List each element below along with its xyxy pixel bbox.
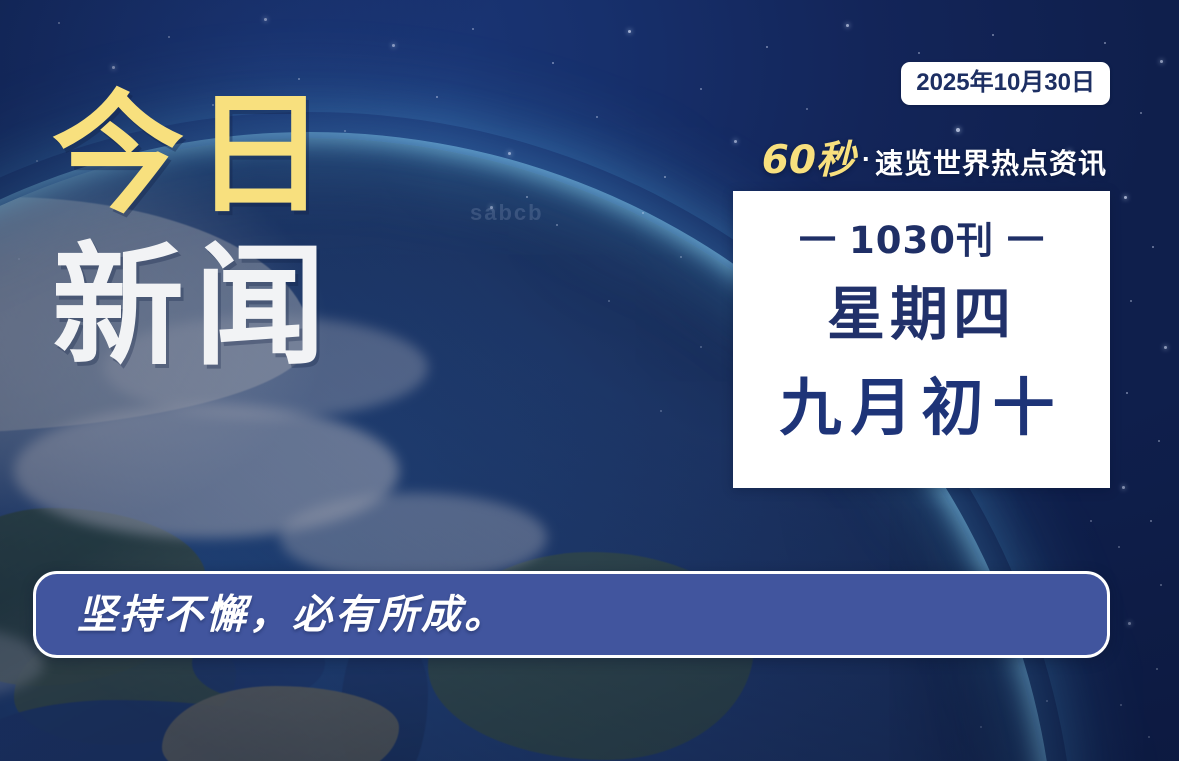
poster-root: sabcb 今日 新闻 2025年10月30日 60秒·速览世界热点资讯 一10… — [0, 0, 1179, 761]
tagline-description: 速览世界热点资讯 — [875, 148, 1107, 179]
star-dot — [556, 224, 558, 226]
star-dot — [1160, 60, 1163, 63]
star-dot — [1156, 668, 1158, 670]
star-dot — [806, 108, 808, 110]
cloud-band-1 — [14, 404, 399, 537]
star-dot — [1120, 704, 1122, 706]
lunar-date-label: 九月初十 — [779, 378, 1063, 440]
star-dot — [700, 88, 702, 90]
star-dot — [608, 300, 610, 302]
star-dot — [344, 130, 346, 132]
star-dot — [1130, 300, 1132, 302]
issue-dash-right: 一 — [994, 219, 1057, 262]
star-dot — [264, 18, 267, 21]
star-dot — [992, 34, 994, 36]
star-dot — [734, 140, 737, 143]
star-dot — [168, 36, 170, 38]
star-dot — [664, 176, 666, 178]
star-dot — [112, 66, 115, 69]
star-dot — [700, 346, 702, 348]
date-badge: 2025年10月30日 — [901, 62, 1110, 105]
star-dot — [1140, 112, 1142, 114]
info-card: 一1030刊一 星期四 九月初十 — [733, 191, 1110, 488]
star-dot — [642, 212, 644, 214]
tagline-seconds: 60秒 — [762, 138, 855, 183]
weekday-label: 星期四 — [827, 286, 1016, 344]
star-dot — [392, 44, 395, 47]
star-dot — [58, 22, 60, 24]
site-watermark: sabcb — [470, 200, 544, 226]
star-dot — [1122, 486, 1125, 489]
star-dot — [1046, 700, 1048, 702]
issue-dash-left: 一 — [786, 219, 849, 262]
star-dot — [1160, 584, 1162, 586]
title-line-xinwen: 新闻 — [52, 248, 336, 366]
star-dot — [1126, 392, 1128, 394]
tagline-separator: · — [855, 144, 875, 174]
quote-text: 坚持不懈，必有所成。 — [77, 595, 507, 635]
landmass-anatolia — [162, 686, 399, 761]
quote-banner: 坚持不懈，必有所成。 — [33, 571, 1110, 658]
star-dot — [596, 116, 598, 118]
star-dot — [1090, 520, 1092, 522]
sea-mediterranean — [0, 700, 310, 761]
star-dot — [660, 410, 662, 412]
star-dot — [628, 30, 631, 33]
star-dot — [956, 128, 960, 132]
star-dot — [680, 256, 682, 258]
star-dot — [1164, 346, 1167, 349]
star-dot — [36, 160, 38, 162]
star-dot — [1124, 196, 1127, 199]
star-dot — [1150, 520, 1152, 522]
star-dot — [1128, 622, 1131, 625]
issue-row: 一1030刊一 — [786, 210, 1057, 264]
star-dot — [436, 96, 438, 98]
title-line-jinri: 今日 — [52, 96, 336, 214]
star-dot — [918, 52, 920, 54]
star-dot — [18, 258, 20, 260]
star-dot — [1152, 246, 1154, 248]
star-dot — [1118, 546, 1120, 548]
star-dot — [980, 726, 982, 728]
star-dot — [1104, 42, 1106, 44]
star-dot — [766, 46, 768, 48]
poster-title: 今日 新闻 — [52, 96, 336, 366]
star-dot — [552, 62, 554, 64]
star-dot — [508, 152, 511, 155]
cloud-band-2 — [280, 493, 546, 582]
star-dot — [472, 28, 474, 30]
issue-number: 1030刊 — [849, 219, 994, 262]
star-dot — [1158, 440, 1160, 442]
star-dot — [526, 196, 528, 198]
star-dot — [490, 206, 493, 209]
star-dot — [846, 24, 849, 27]
tagline: 60秒·速览世界热点资讯 — [762, 141, 1107, 180]
star-dot — [1148, 736, 1150, 738]
